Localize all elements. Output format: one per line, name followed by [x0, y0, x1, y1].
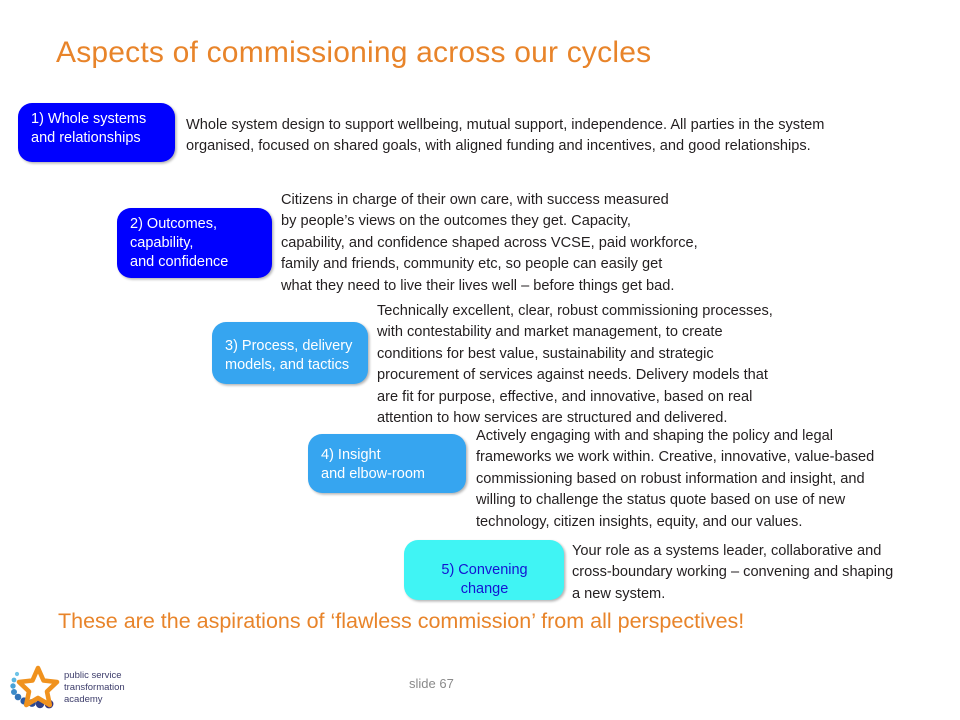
slide-canvas: Aspects of commissioning across our cycl… — [0, 0, 960, 720]
aspect-description-1: Whole system design to support wellbeing… — [186, 115, 866, 158]
aspect-pill-5[interactable]: 5) Convening change — [404, 540, 564, 600]
aspect-description-2: Citizens in charge of their own care, wi… — [281, 190, 921, 297]
slide-number: slide 67 — [409, 676, 454, 691]
logo-text: public service transformation academy — [64, 670, 125, 706]
page-title: Aspects of commissioning across our cycl… — [56, 36, 651, 70]
aspect-pill-3[interactable]: 3) Process, delivery models, and tactics — [212, 322, 368, 384]
aspect-pill-4[interactable]: 4) Insight and elbow-room — [308, 434, 466, 493]
aspect-pill-1[interactable]: 1) Whole systems and relationships — [18, 103, 175, 162]
aspect-description-4: Actively engaging with and shaping the p… — [476, 426, 960, 533]
aspect-description-5: Your role as a systems leader, collabora… — [572, 541, 912, 605]
aspect-description-3: Technically excellent, clear, robust com… — [377, 301, 960, 430]
aspect-pill-2[interactable]: 2) Outcomes, capability, and confidence — [117, 208, 272, 278]
logo: public service transformation academy — [8, 662, 158, 714]
summary-caption: These are the aspirations of ‘flawless c… — [58, 609, 744, 634]
